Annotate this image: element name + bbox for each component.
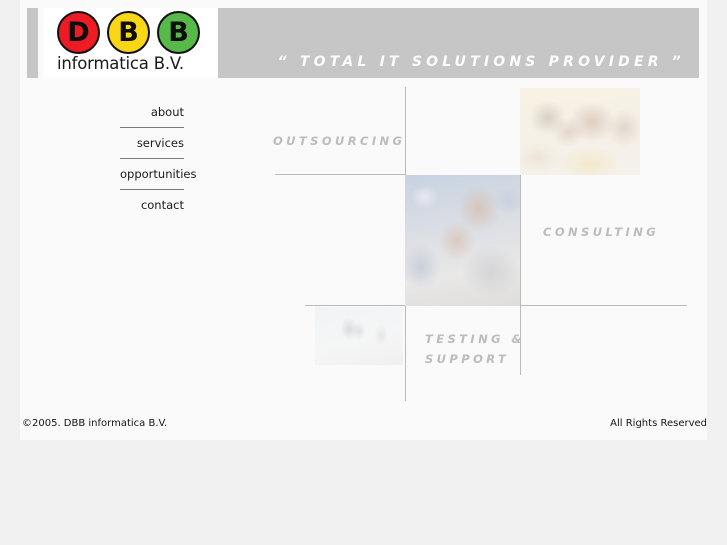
tagline-band: “ TOTAL IT SOLUTIONS PROVIDER ” xyxy=(218,8,699,78)
header-accent-bar xyxy=(27,8,38,78)
main-navigation: about services opportunities contact xyxy=(120,104,184,213)
two-men-at-desk-photo xyxy=(405,175,520,306)
photo-wash-overlay xyxy=(405,175,520,306)
footer-rights: All Rights Reserved xyxy=(610,418,707,429)
nav-item-about[interactable]: about xyxy=(120,104,184,120)
nav-divider xyxy=(120,189,184,190)
photo-wash-overlay xyxy=(315,307,403,365)
site-logo[interactable]: D B B informatica B.V. xyxy=(43,8,218,78)
footer-copyright: ©2005. DBB informatica B.V. xyxy=(22,418,167,429)
page-canvas: D B B informatica B.V. “ TOTAL IT SOLUTI… xyxy=(20,0,707,440)
office-interior-photo xyxy=(315,307,403,365)
site-header: D B B informatica B.V. “ TOTAL IT SOLUTI… xyxy=(20,0,707,86)
logo-wordmark: informatica B.V. xyxy=(57,54,209,73)
logo-dots-group: D B B xyxy=(57,11,205,55)
nav-divider xyxy=(120,127,184,128)
nav-item-contact[interactable]: contact xyxy=(120,197,184,213)
logo-dot-b-yellow: B xyxy=(107,11,150,54)
photo-wash-overlay xyxy=(520,88,640,175)
tagline-text: “ TOTAL IT SOLUTIONS PROVIDER ” xyxy=(278,54,685,70)
logo-dot-d-red: D xyxy=(57,11,100,54)
nav-divider xyxy=(120,158,184,159)
site-footer: ©2005. DBB informatica B.V. All Rights R… xyxy=(20,418,707,436)
quadrant-label-consulting[interactable]: Consulting xyxy=(543,225,659,239)
nav-item-opportunities[interactable]: opportunities xyxy=(120,166,184,182)
logo-dot-b-green: B xyxy=(157,11,200,54)
nav-item-services[interactable]: services xyxy=(120,135,184,151)
diagram-horizontal-line-top xyxy=(275,174,406,175)
quadrant-label-outsourcing[interactable]: Outsourcing xyxy=(273,134,405,148)
people-collaborating-photo xyxy=(520,88,640,175)
quadrant-label-testing-support[interactable]: Testing & Support xyxy=(425,329,535,369)
